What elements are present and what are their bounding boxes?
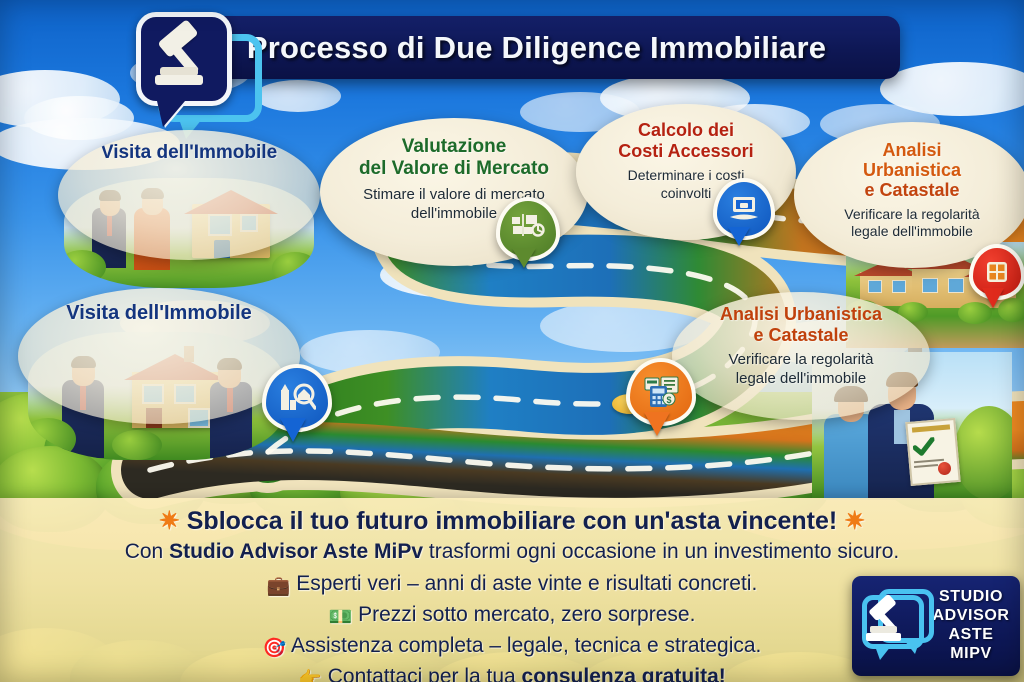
brand-badge-text: STUDIO ADVISOR ASTE MIPV (928, 588, 1020, 664)
step-title: Visita dell'Immobile (18, 302, 300, 324)
cta-bullet-2-text: Prezzi sotto mercato, zero sorprese. (358, 603, 695, 626)
step-subtitle-line2: legale dell'immobile (794, 223, 1024, 239)
star-burst-icon: ✷ (844, 507, 865, 535)
cta-bullet-1-text: Esperti veri – anni di aste vinte e risu… (296, 572, 757, 595)
step-title-line2: Costi Accessori (576, 141, 796, 161)
step-title-line3: e Catastale (794, 180, 1024, 200)
cta-bullet-3-text: Assistenza completa – legale, tecnica e … (291, 634, 761, 657)
cta-subline-post: trasformi ogni occasione in un investime… (423, 540, 899, 563)
poster-title-bar: Processo di Due Diligence Immobiliare (173, 16, 900, 79)
cta-headline-text: Sblocca il tuo futuro immobiliare con un… (187, 507, 838, 535)
step-title: Visita dell'Immobile (58, 142, 320, 163)
pin-tip (728, 227, 750, 246)
cta-final-pre: Contattaci per la tua (328, 665, 522, 682)
pin-tip (644, 412, 670, 436)
cta-final-bold: consulenza gratuita! (522, 665, 726, 682)
step-title-line1: Calcolo dei (576, 120, 796, 140)
cta-headline: ✷ Sblocca il tuo futuro immobiliare con … (0, 506, 1024, 536)
step-bubble-analisi-bottom[interactable]: Analisi Urbanistica e Catastale Verifica… (672, 292, 930, 420)
pin-tip (512, 248, 536, 268)
cloud (640, 250, 760, 288)
pointing-hand-icon: 👉 (298, 669, 322, 682)
step-title-line2: del Valore di Mercato (320, 158, 588, 179)
step-title-line2: Urbanistica (794, 160, 1024, 180)
pin-tip (280, 418, 306, 442)
svg-text:$: $ (666, 395, 671, 405)
step-subtitle-line2: legale dell'immobile (672, 370, 930, 387)
step-title-line1: Analisi Urbanistica (672, 304, 930, 324)
brand-badge[interactable]: STUDIO ADVISOR ASTE MIPV (852, 576, 1020, 676)
step-bubble-visita-bottom[interactable]: Visita dell'Immobile (18, 288, 300, 424)
gavel-chat-icon (858, 587, 928, 665)
star-burst-icon: ✷ (159, 507, 180, 535)
step-subtitle-line1: Verificare la regolarità (794, 206, 1024, 222)
brand-line-2: ADVISOR (928, 607, 1014, 626)
cta-brand-name: Studio Advisor Aste MiPv (169, 540, 423, 563)
step-subtitle-line1: Determinare i costi (576, 167, 796, 183)
step-title-line1: Analisi (794, 140, 1024, 160)
page-title: Processo di Due Diligence Immobiliare (247, 30, 826, 66)
infographic-poster: Processo di Due Diligence Immobiliare (0, 0, 1024, 682)
step-subtitle-line1: Verificare la regolarità (672, 351, 930, 368)
brand-line-4: MIPV (928, 645, 1014, 664)
cloud (255, 80, 341, 112)
brand-line-3: ASTE (928, 626, 1014, 645)
cta-subline: Con Studio Advisor Aste MiPv trasformi o… (0, 540, 1024, 564)
step-bubble-visita-top[interactable]: Visita dell'Immobile (58, 130, 320, 260)
gavel-chat-icon (132, 8, 254, 124)
money-bills-icon: 💵 (329, 607, 353, 628)
cta-subline-pre: Con (125, 540, 169, 563)
briefcase-icon: 💼 (267, 576, 291, 597)
step-title-line2: e Catastale (672, 325, 930, 345)
target-icon: 🎯 (263, 638, 287, 659)
step-title-line1: Valutazione (320, 136, 588, 157)
brand-line-1: STUDIO (928, 588, 1014, 607)
pin-tip (982, 288, 1004, 308)
